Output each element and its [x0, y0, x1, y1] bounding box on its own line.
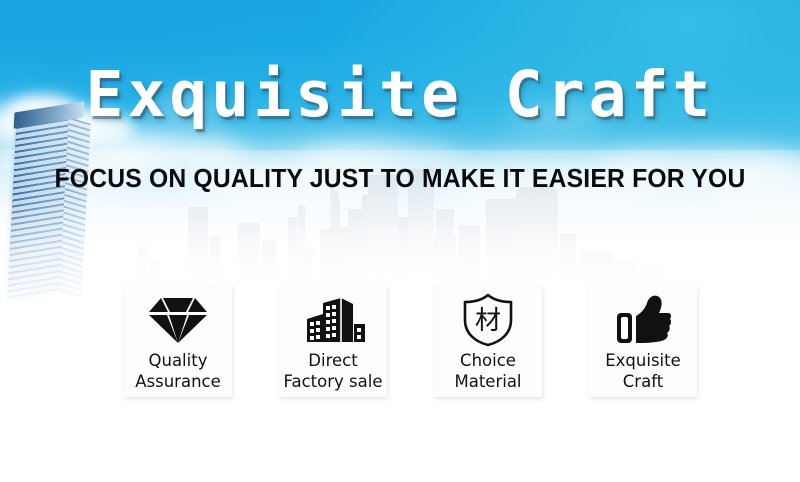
feature-card-list: Quality Assurance [124, 285, 697, 397]
feature-label-line1: Quality [149, 351, 208, 370]
feature-label-line2: Material [454, 371, 521, 392]
feature-card-label: Exquisite Craft [605, 350, 681, 392]
shield-material-icon: 材 [461, 285, 515, 351]
feature-label-line2: Craft [605, 371, 681, 392]
feature-card-exquisite-craft[interactable]: Exquisite Craft [589, 285, 697, 397]
feature-card-quality-assurance[interactable]: Quality Assurance [124, 285, 232, 397]
feature-card-direct-factory-sale[interactable]: Direct Factory sale [279, 285, 387, 397]
feature-label-line1: Direct [308, 351, 357, 370]
material-glyph: 材 [475, 306, 501, 336]
glass-skyscraper-photo [0, 105, 124, 305]
feature-label-line2: Assurance [135, 371, 221, 392]
thumbs-up-icon [614, 285, 672, 351]
promo-banner: Exquisite Craft FOCUS ON QUALITY JUST TO… [0, 0, 800, 482]
feature-label-line1: Choice [460, 351, 516, 370]
page-subtitle: FOCUS ON QUALITY JUST TO MAKE IT EASIER … [20, 163, 780, 193]
feature-card-label: Direct Factory sale [284, 350, 383, 392]
diamond-icon [147, 285, 209, 351]
feature-label-line1: Exquisite [605, 351, 681, 370]
feature-card-choice-material[interactable]: 材 Choice Material [434, 285, 542, 397]
feature-card-label: Quality Assurance [135, 350, 221, 392]
factory-buildings-icon [301, 285, 365, 351]
feature-label-line2: Factory sale [284, 371, 383, 392]
page-title: Exquisite Craft [0, 62, 800, 128]
feature-card-label: Choice Material [454, 350, 521, 392]
